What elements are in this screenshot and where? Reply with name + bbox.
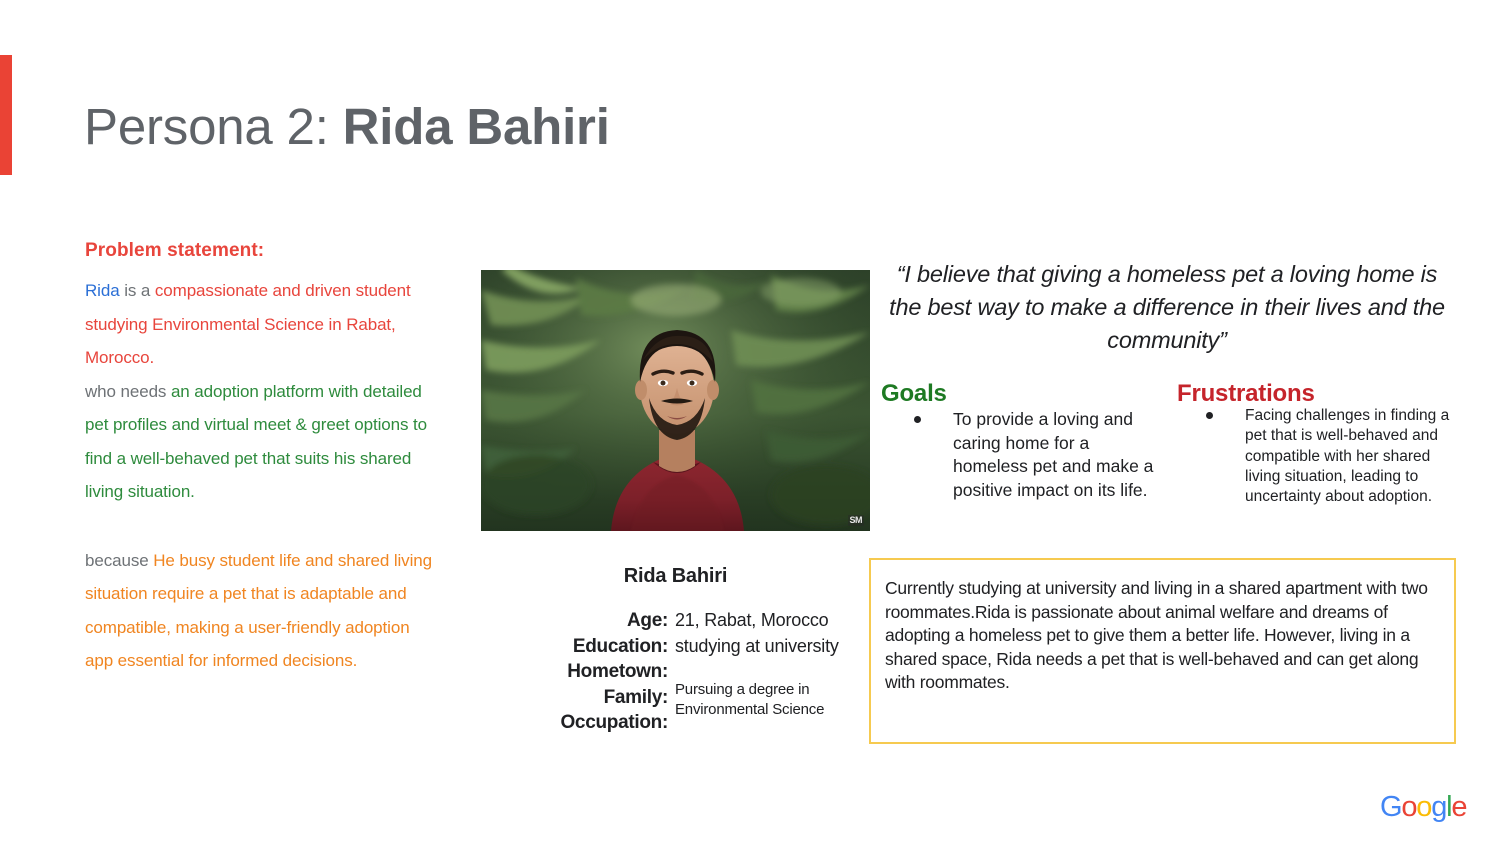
persona-summary-text: Currently studying at university and liv… — [885, 577, 1438, 695]
bio-value-age: 21, Rabat, Morocco — [668, 608, 828, 634]
logo-letter-o1: o — [1401, 791, 1416, 823]
problem-statement-sentence-2: who needs an adoption platform with deta… — [85, 375, 437, 509]
bio-label-education: Education: — [508, 634, 668, 660]
goal-text: To provide a loving and caring home for … — [953, 409, 1153, 500]
problem-statement-sentence-3: because He busy student life and shared … — [85, 544, 437, 678]
page-title: Persona 2: Rida Bahiri — [84, 96, 610, 158]
persona-name-heading: Rida Bahiri — [481, 565, 870, 588]
persona-quote: “I believe that giving a homeless pet a … — [886, 258, 1448, 357]
connector-is-a: is a — [120, 281, 155, 300]
bio-label-age: Age: — [508, 608, 668, 634]
bullet-icon — [914, 416, 921, 423]
frustrations-list: Facing challenges in finding a pet that … — [1197, 406, 1452, 507]
problem-statement-sentence-1: Rida is a compassionate and driven stude… — [85, 274, 437, 375]
title-persona-name: Rida Bahiri — [343, 98, 610, 155]
slide-canvas: Persona 2: Rida Bahiri Problem statement… — [0, 0, 1501, 845]
logo-letter-g1: G — [1380, 791, 1401, 823]
list-item: To provide a loving and caring home for … — [905, 408, 1155, 502]
photo-watermark: SM — [848, 515, 865, 526]
list-item: Facing challenges in finding a pet that … — [1197, 406, 1452, 507]
bullet-icon — [1206, 412, 1213, 419]
frustrations-heading: Frustrations — [1177, 380, 1315, 408]
connector-because: because — [85, 551, 153, 570]
bio-occupation-note: Pursuing a degree in Environmental Scien… — [675, 680, 875, 720]
persona-photo: SM — [481, 270, 870, 531]
table-row: Education: studying at university — [508, 634, 870, 660]
bio-details-table: Age: 21, Rabat, Morocco Education: study… — [508, 608, 870, 736]
goals-list: To provide a loving and caring home for … — [905, 408, 1155, 502]
table-row: Age: 21, Rabat, Morocco — [508, 608, 870, 634]
frustration-text: Facing challenges in finding a pet that … — [1245, 407, 1449, 505]
logo-letter-g2: g — [1431, 791, 1446, 823]
logo-letter-e: e — [1451, 791, 1466, 823]
problem-statement-heading: Problem statement: — [85, 238, 437, 264]
bio-value-education: studying at university — [668, 634, 839, 660]
persona-name-highlight: Rida — [85, 281, 120, 300]
connector-who-needs: who needs — [85, 382, 171, 401]
bio-label-occupation: Occupation: — [508, 710, 668, 736]
bio-label-family: Family: — [508, 685, 668, 711]
google-logo: Google — [1380, 790, 1466, 824]
bio-label-hometown: Hometown: — [508, 659, 668, 685]
title-prefix: Persona 2: — [84, 98, 343, 155]
logo-letter-o2: o — [1416, 791, 1431, 823]
persona-summary-box: Currently studying at university and liv… — [869, 558, 1456, 744]
accent-bar — [0, 55, 12, 175]
problem-statement-column: Problem statement: Rida is a compassiona… — [85, 238, 437, 678]
paragraph-spacer — [85, 509, 437, 544]
persona-photo-image — [481, 270, 870, 531]
goals-heading: Goals — [881, 380, 947, 408]
